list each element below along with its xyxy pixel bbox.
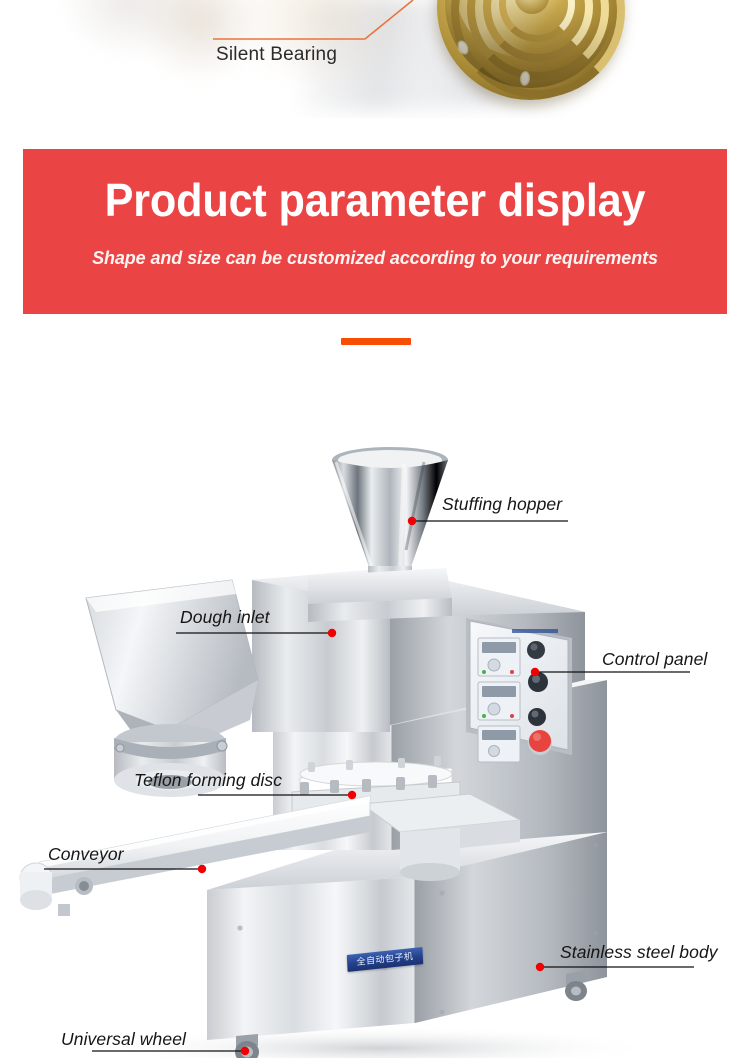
banner-title: Product parameter display: [44, 173, 706, 227]
callout-marker: [531, 668, 539, 676]
callout-label-conveyor: Conveyor: [48, 844, 124, 865]
stuffing-hopper-part: [332, 447, 448, 586]
callout-marker: [241, 1047, 249, 1055]
callout-label-universal-wheel: Universal wheel: [61, 1029, 186, 1050]
callout-label-teflon-forming-disc: Teflon forming disc: [134, 770, 282, 791]
callout-marker: [198, 865, 206, 873]
control-panel-assembly: [466, 618, 572, 762]
callout-label-dough-inlet: Dough inlet: [180, 607, 270, 628]
callout-label-stainless-steel-body: Stainless steel body: [560, 942, 718, 963]
silent-bearing-label: Silent Bearing: [216, 44, 337, 66]
callout-label-stuffing-hopper: Stuffing hopper: [442, 494, 562, 515]
callout-marker: [328, 629, 336, 637]
callout-marker: [408, 517, 416, 525]
banner-subtitle: Shape and size can be customized accordi…: [23, 248, 727, 269]
callout-marker: [536, 963, 544, 971]
silent-bearing-leader-line: [0, 0, 750, 118]
section-divider: [341, 338, 411, 345]
product-parameter-banner: Product parameter display Shape and size…: [23, 149, 727, 314]
silent-bearing-section: Silent Bearing: [0, 0, 750, 118]
callout-marker: [348, 791, 356, 799]
callout-label-control-panel: Control panel: [602, 649, 707, 670]
